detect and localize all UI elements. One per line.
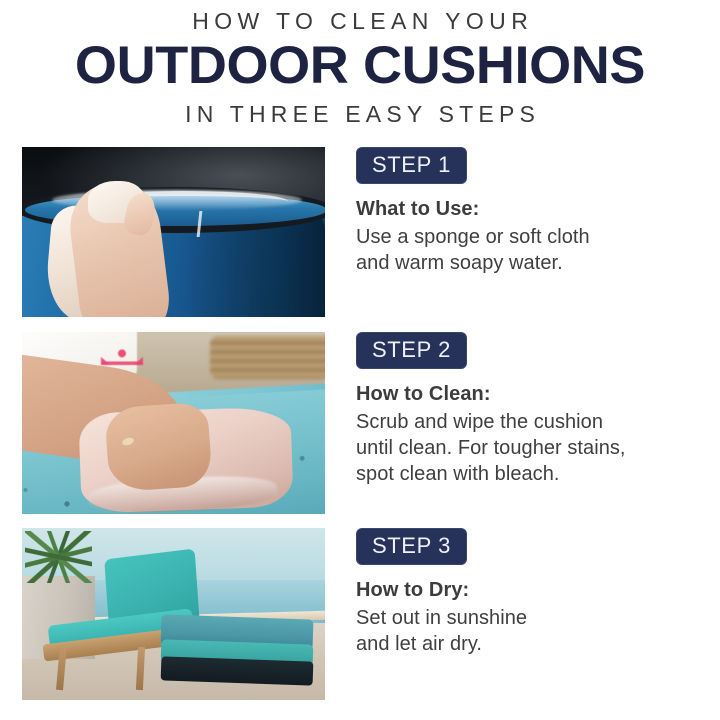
background-basket <box>210 336 325 380</box>
scrubbing-hand <box>104 401 213 492</box>
step-2-text: STEP 2 How to Clean: Scrub and wipe the … <box>356 332 700 487</box>
page-title: OUTDOOR CUSHIONS <box>0 36 720 96</box>
step-1-body: Use a sponge or soft cloth and warm soap… <box>356 224 700 276</box>
step-1-text: STEP 1 What to Use: Use a sponge or soft… <box>356 147 700 276</box>
header: HOW TO CLEAN YOUR OUTDOOR CUSHIONS IN TH… <box>0 0 720 140</box>
step-row-1: STEP 1 What to Use: Use a sponge or soft… <box>0 147 720 317</box>
step-2-photo <box>22 332 325 514</box>
step-3-photo <box>22 528 325 700</box>
step-3-text: STEP 3 How to Dry: Set out in sunshine a… <box>356 528 700 657</box>
poolside-scene <box>22 528 325 700</box>
step-2-body: Scrub and wipe the cushion until clean. … <box>356 409 700 487</box>
step-row-2: STEP 2 How to Clean: Scrub and wipe the … <box>0 332 720 514</box>
stacked-cushion-bottom <box>161 656 313 685</box>
step-2-badge: STEP 2 <box>356 332 467 369</box>
step-row-3: STEP 3 How to Dry: Set out in sunshine a… <box>0 528 720 700</box>
infographic-root: HOW TO CLEAN YOUR OUTDOOR CUSHIONS IN TH… <box>0 0 720 720</box>
step-3-badge: STEP 3 <box>356 528 467 565</box>
cleaning-scene <box>22 332 325 514</box>
header-kicker: HOW TO CLEAN YOUR <box>0 8 720 34</box>
step-3-body: Set out in sunshine and let air dry. <box>356 605 700 657</box>
step-3-heading: How to Dry: <box>356 578 700 603</box>
header-subtitle: IN THREE EASY STEPS <box>0 101 720 127</box>
shirt-graphic <box>101 336 143 365</box>
step-1-heading: What to Use: <box>356 197 700 222</box>
bucket-scene <box>22 147 325 317</box>
step-2-heading: How to Clean: <box>356 382 700 407</box>
agave-plant <box>25 531 92 583</box>
step-1-badge: STEP 1 <box>356 147 467 184</box>
step-1-photo <box>22 147 325 317</box>
